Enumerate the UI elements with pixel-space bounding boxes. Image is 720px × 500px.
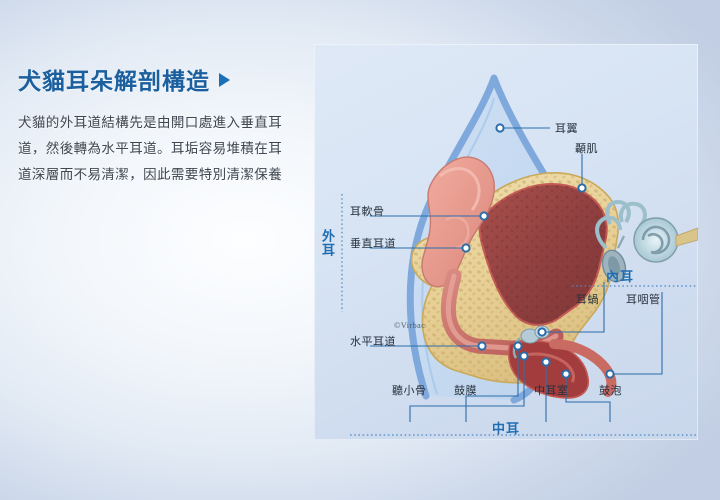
title-row: 犬貓耳朵解剖構造 [18,62,298,96]
ear-anatomy-diagram-panel: 耳翼 顳肌 耳軟骨 垂直耳道 水平耳道 耳蝸 耳咽管 聽小骨 鼓膜 中耳室 鼓泡… [314,44,698,440]
page-root: 犬貓耳朵解剖構造 犬貓的外耳道結構先是由開口處進入垂直耳道，然後轉為水平耳道。耳… [0,0,720,500]
play-triangle-right-icon[interactable] [219,73,230,87]
callout-label-horizontal-canal: 水平耳道 [350,333,396,349]
callout-label-cochlea: 耳蝸 [576,291,599,307]
region-label-outer-ear: 外耳 [320,229,335,257]
page-title: 犬貓耳朵解剖構造 [18,62,210,96]
region-label-middle-ear: 中耳 [492,418,520,437]
callout-label-eardrum: 鼓膜 [454,382,477,398]
callout-label-vertical-canal: 垂直耳道 [350,235,396,251]
region-label-inner-ear: 內耳 [606,266,634,285]
article-body: 犬貓的外耳道結構先是由開口處進入垂直耳道，然後轉為水平耳道。耳垢容易堆積在耳道深… [18,110,290,188]
callout-label-ear-cartilage: 耳軟骨 [350,203,385,219]
callout-label-pinna: 耳翼 [555,120,578,136]
callout-label-tympanic-bulla: 鼓泡 [599,382,622,398]
callout-label-ossicles: 聽小骨 [392,382,427,398]
callout-label-eustachian-tube: 耳咽管 [626,291,661,307]
copyright-notice: ©Virbac [394,320,425,330]
callout-label-temporal-muscle: 顳肌 [575,140,598,156]
callout-label-middle-ear-cavity: 中耳室 [534,382,569,398]
article-text-column: 犬貓耳朵解剖構造 犬貓的外耳道結構先是由開口處進入垂直耳道，然後轉為水平耳道。耳… [18,62,298,188]
